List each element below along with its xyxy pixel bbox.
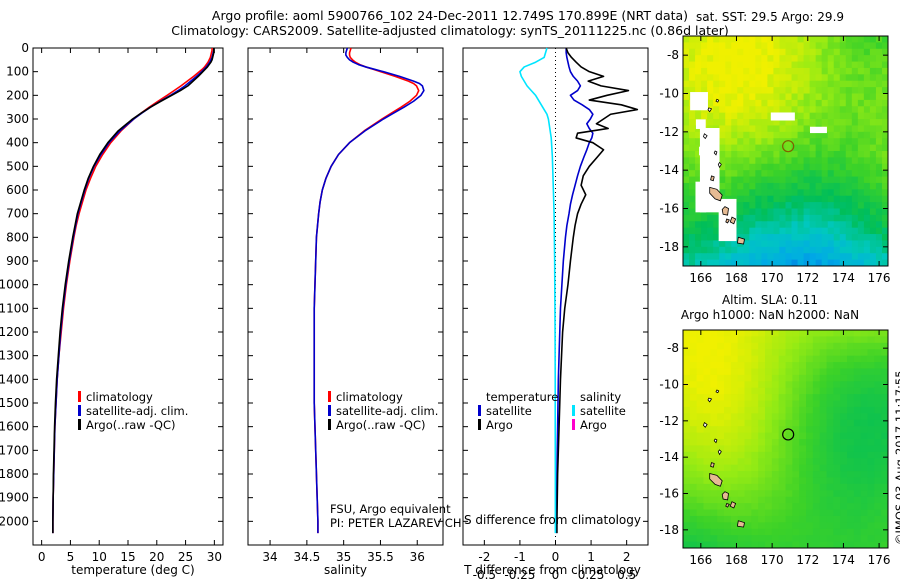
map-cell: [689, 170, 696, 177]
map-cell: [868, 401, 875, 408]
map-cell: [738, 413, 745, 420]
map-cell: [854, 452, 861, 459]
map-cell: [870, 138, 877, 145]
map-cell: [683, 471, 690, 478]
map-cell: [710, 433, 717, 440]
map-cell: [695, 215, 702, 222]
map-cell: [737, 119, 744, 126]
map-cell: [881, 336, 888, 343]
map-cell: [704, 343, 711, 350]
map-cell: [737, 113, 744, 120]
map-cell: [822, 240, 829, 247]
legend-item: climatology: [328, 390, 438, 404]
map-cell: [876, 157, 883, 164]
map-cell: [876, 189, 883, 196]
x-tick-label-bottom: 1: [587, 550, 595, 564]
map-cell: [761, 87, 768, 94]
map-cell: [847, 477, 854, 484]
map-cell: [828, 132, 835, 139]
map-cell: [820, 401, 827, 408]
map-cell: [847, 420, 854, 427]
map-cell: [737, 183, 744, 190]
map-cell: [724, 394, 731, 401]
map-cell: [690, 439, 697, 446]
map-cell: [806, 510, 813, 517]
map-cell: [749, 36, 756, 43]
map-cell: [804, 164, 811, 171]
map-cell: [846, 209, 853, 216]
map-cell: [792, 439, 799, 446]
map-cell: [786, 125, 793, 132]
map-cell: [751, 401, 758, 408]
map-cell: [852, 202, 859, 209]
map-cell: [786, 330, 793, 337]
map-cell: [864, 240, 871, 247]
map-cell: [868, 356, 875, 363]
map-cell: [737, 247, 744, 254]
map-cell: [792, 407, 799, 414]
map-cell: [751, 535, 758, 542]
map-cell: [765, 452, 772, 459]
map-cell: [820, 522, 827, 529]
map-cell: [683, 215, 690, 222]
map-cell: [792, 394, 799, 401]
map-cell: [731, 87, 738, 94]
map-cell: [799, 529, 806, 536]
map-cell: [731, 535, 738, 542]
map-cell: [881, 484, 888, 491]
map-cell: [731, 138, 738, 145]
map-cell: [683, 132, 690, 139]
map-cell: [861, 388, 868, 395]
map-cell: [731, 356, 738, 363]
map-cell: [870, 55, 877, 62]
map-cell: [772, 465, 779, 472]
map-cell: [792, 522, 799, 529]
map-cell: [876, 138, 883, 145]
map-cell: [761, 221, 768, 228]
map-cell: [717, 420, 724, 427]
map-cell: [840, 394, 847, 401]
map-cell: [840, 426, 847, 433]
map-cell: [707, 247, 714, 254]
map-cell: [858, 215, 865, 222]
map-cell: [813, 510, 820, 517]
map-cell: [738, 471, 745, 478]
map-cell: [786, 215, 793, 222]
map-cell: [683, 356, 690, 363]
map-cell: [792, 164, 799, 171]
map-cell: [804, 74, 811, 81]
map-cell: [847, 336, 854, 343]
map-cell: [858, 49, 865, 56]
map-cell: [828, 234, 835, 241]
map-cell: [834, 42, 841, 49]
map-cell: [858, 177, 865, 184]
map-cell: [828, 209, 835, 216]
map-cell: [717, 522, 724, 529]
map-cell: [755, 49, 762, 56]
map-cell: [833, 394, 840, 401]
map-cell: [755, 164, 762, 171]
legend-label: satellite-adj. clim.: [86, 404, 188, 418]
map-cell: [758, 394, 765, 401]
map-cell: [786, 413, 793, 420]
map-cell: [772, 420, 779, 427]
map-cell: [731, 477, 738, 484]
map-cell: [840, 401, 847, 408]
map-cell: [804, 81, 811, 88]
map-cell: [704, 497, 711, 504]
map-cell: [858, 145, 865, 152]
map-cell: [786, 68, 793, 75]
map-cell: [724, 458, 731, 465]
map-cell: [854, 394, 861, 401]
map-cell: [810, 113, 817, 120]
y-tick-label: -18: [659, 240, 679, 254]
map-cell: [772, 394, 779, 401]
map-cell: [725, 94, 732, 101]
map-cell: [779, 106, 786, 113]
map-cell: [737, 221, 744, 228]
y-tick-label: -12: [659, 125, 679, 139]
map-cell: [846, 189, 853, 196]
map-cell: [755, 119, 762, 126]
map-cell: [767, 68, 774, 75]
map-cell: [799, 445, 806, 452]
map-cell: [710, 401, 717, 408]
map-cell: [813, 471, 820, 478]
map-cell: [779, 215, 786, 222]
map-cell: [804, 145, 811, 152]
map-cell: [861, 465, 868, 472]
map-cell: [683, 62, 690, 69]
map-cell: [799, 516, 806, 523]
map-cell: [828, 81, 835, 88]
map-cell: [743, 81, 750, 88]
map-cell: [798, 240, 805, 247]
map-cell: [697, 388, 704, 395]
map-cell: [870, 119, 877, 126]
map-cell: [858, 202, 865, 209]
map-cell: [852, 247, 859, 254]
map-cell: [751, 439, 758, 446]
map-cell: [870, 62, 877, 69]
map-cell: [806, 420, 813, 427]
map-cell: [751, 394, 758, 401]
map-cell: [868, 336, 875, 343]
map-cell: [745, 413, 752, 420]
map-cell: [806, 343, 813, 350]
map-cell: [786, 522, 793, 529]
map-cell: [755, 157, 762, 164]
map-cell: [710, 420, 717, 427]
map-cell: [810, 247, 817, 254]
map-cell: [758, 375, 765, 382]
map-cell: [846, 106, 853, 113]
map-cell: [827, 394, 834, 401]
map-cell: [852, 177, 859, 184]
map-cell: [820, 497, 827, 504]
map-cell: [719, 177, 726, 184]
legend-header-label: temperature: [486, 390, 558, 404]
map-cell: [786, 55, 793, 62]
map-cell: [719, 113, 726, 120]
map-cell: [876, 145, 883, 152]
map-cell: [683, 234, 690, 241]
map-cell: [725, 145, 732, 152]
map-cell: [689, 55, 696, 62]
map-cell: [717, 426, 724, 433]
map-cell: [854, 426, 861, 433]
map-cell: [719, 55, 726, 62]
map-cell: [779, 164, 786, 171]
map-cell: [761, 196, 768, 203]
map-cell: [792, 503, 799, 510]
map-cell: [767, 196, 774, 203]
map-cell: [816, 234, 823, 241]
map-cell: [828, 119, 835, 126]
map-cell: [755, 55, 762, 62]
map-cell: [751, 388, 758, 395]
map-cell: [786, 535, 793, 542]
map-cell: [840, 388, 847, 395]
map-cell: [864, 94, 871, 101]
map-cell: [806, 394, 813, 401]
map-cell: [786, 362, 793, 369]
map-cell: [719, 62, 726, 69]
map-cell: [833, 484, 840, 491]
map-cell: [792, 375, 799, 382]
y-tick-label: 1000: [0, 278, 29, 292]
map-cell: [870, 209, 877, 216]
map-cell: [847, 445, 854, 452]
map-cell: [690, 503, 697, 510]
map-cell: [772, 349, 779, 356]
map-cell: [772, 503, 779, 510]
map-cell: [828, 240, 835, 247]
legend-label: climatology: [86, 390, 153, 404]
map-cell: [876, 228, 883, 235]
map-cell: [810, 202, 817, 209]
map-cell: [792, 368, 799, 375]
map-cell: [847, 439, 854, 446]
map-cell: [713, 68, 720, 75]
map-cell: [697, 407, 704, 414]
map-cell: [799, 522, 806, 529]
map-cell: [799, 349, 806, 356]
map-cell: [864, 189, 871, 196]
map-cell: [707, 74, 714, 81]
map-cell: [854, 349, 861, 356]
map-cell: [743, 62, 750, 69]
map-cell: [743, 215, 750, 222]
map-cell: [840, 42, 847, 49]
map-cell: [792, 215, 799, 222]
map-cell: [828, 253, 835, 260]
map-cell: [792, 74, 799, 81]
map-cell: [689, 74, 696, 81]
legend-header-label: salinity: [580, 390, 621, 404]
map-cell: [725, 100, 732, 107]
map-cell: [765, 433, 772, 440]
x-tick-label: 176: [868, 553, 891, 567]
map-cell: [719, 42, 726, 49]
map-cell: [779, 189, 786, 196]
map-cell: [689, 164, 696, 171]
map-cell: [738, 426, 745, 433]
map-cell: [707, 87, 714, 94]
map-cell: [827, 336, 834, 343]
sla-map: 166168170172174176-8-10-12-14-16-18: [655, 322, 895, 580]
map-cell: [779, 151, 786, 158]
map-cell: [834, 145, 841, 152]
map-cell: [731, 420, 738, 427]
map-cell: [854, 497, 861, 504]
map-cell: [725, 177, 732, 184]
map-cell: [767, 49, 774, 56]
map-cell: [852, 164, 859, 171]
map-cell: [852, 94, 859, 101]
map-cell: [690, 535, 697, 542]
map-cell: [792, 401, 799, 408]
map-cell: [704, 439, 711, 446]
map-cell: [833, 356, 840, 363]
map-cell: [765, 349, 772, 356]
map-cell: [858, 151, 865, 158]
map-cell: [683, 138, 690, 145]
map-cell: [767, 221, 774, 228]
map-cell: [852, 157, 859, 164]
map-cell: [810, 68, 817, 75]
map-cell: [751, 510, 758, 517]
map-cell: [710, 394, 717, 401]
map-cell: [822, 62, 829, 69]
map-cell: [761, 55, 768, 62]
x-tick-label: 25: [178, 550, 193, 564]
map-cell: [799, 407, 806, 414]
map-cell: [745, 439, 752, 446]
legend-header: temperature: [478, 390, 558, 404]
map-cell: [731, 106, 738, 113]
map-cell: [724, 368, 731, 375]
map-cell: [834, 49, 841, 56]
map-cell: [816, 209, 823, 216]
x-tick-label: 0: [38, 550, 46, 564]
map-cell: [852, 221, 859, 228]
map-cell: [870, 132, 877, 139]
map-cell: [689, 151, 696, 158]
map-cell: [813, 336, 820, 343]
y-tick-label: -8: [667, 341, 679, 355]
map-cell: [847, 388, 854, 395]
map-cell: [786, 228, 793, 235]
map-cell: [828, 74, 835, 81]
map-cell: [847, 535, 854, 542]
map-cell: [719, 125, 726, 132]
map-cell: [806, 516, 813, 523]
map-cell: [861, 477, 868, 484]
map-cell: [813, 484, 820, 491]
map-cell: [749, 49, 756, 56]
map-cell: [816, 151, 823, 158]
map-cell: [847, 375, 854, 382]
map-cell: [876, 119, 883, 126]
map-cell: [799, 368, 806, 375]
map-cell: [870, 113, 877, 120]
map-cell: [749, 145, 756, 152]
map-cell: [852, 138, 859, 145]
map-cell: [792, 202, 799, 209]
map-cell: [810, 209, 817, 216]
map-cell: [798, 164, 805, 171]
map-cell: [820, 349, 827, 356]
map-cell: [707, 234, 714, 241]
map-cell: [874, 413, 881, 420]
map-cell: [725, 164, 732, 171]
map-cell: [749, 94, 756, 101]
map-cell: [707, 215, 714, 222]
map-cell: [840, 145, 847, 152]
map-cell: [806, 368, 813, 375]
map-cell: [719, 106, 726, 113]
map-cell: [834, 164, 841, 171]
map-cell: [717, 368, 724, 375]
map-cell: [738, 401, 745, 408]
map-cell: [858, 125, 865, 132]
map-cell: [813, 343, 820, 350]
map-cell: [704, 458, 711, 465]
map-cell: [772, 336, 779, 343]
map-cell: [690, 484, 697, 491]
map-cell: [779, 157, 786, 164]
map-cell: [840, 407, 847, 414]
map-cell: [798, 87, 805, 94]
map-cell: [799, 471, 806, 478]
y-tick-label: 900: [6, 254, 29, 268]
map-cell: [743, 202, 750, 209]
map-cell: [707, 55, 714, 62]
map-cell: [697, 401, 704, 408]
map-cell: [847, 522, 854, 529]
map-cell: [731, 349, 738, 356]
map-cell: [761, 247, 768, 254]
map-cell: [695, 247, 702, 254]
map-cell: [833, 529, 840, 536]
map-cell: [773, 253, 780, 260]
map-cell: [820, 490, 827, 497]
map-cell: [840, 177, 847, 184]
map-cell: [820, 484, 827, 491]
fsu-annotation: FSU, Argo equivalent PI: PETER LAZAREVIC…: [330, 502, 461, 530]
map-cell: [767, 62, 774, 69]
map-cell: [820, 452, 827, 459]
map-cell: [840, 240, 847, 247]
map-cell: [792, 221, 799, 228]
map-cell: [758, 388, 765, 395]
map-cell: [765, 477, 772, 484]
map-cell: [773, 87, 780, 94]
map-cell: [690, 394, 697, 401]
map-cell: [868, 490, 875, 497]
map-cell: [854, 343, 861, 350]
y-tick-label: 200: [6, 88, 29, 102]
map-cell: [876, 151, 883, 158]
map-cell: [813, 439, 820, 446]
x-tick-label: 30: [207, 550, 222, 564]
map-cell: [792, 106, 799, 113]
map-cell: [813, 433, 820, 440]
